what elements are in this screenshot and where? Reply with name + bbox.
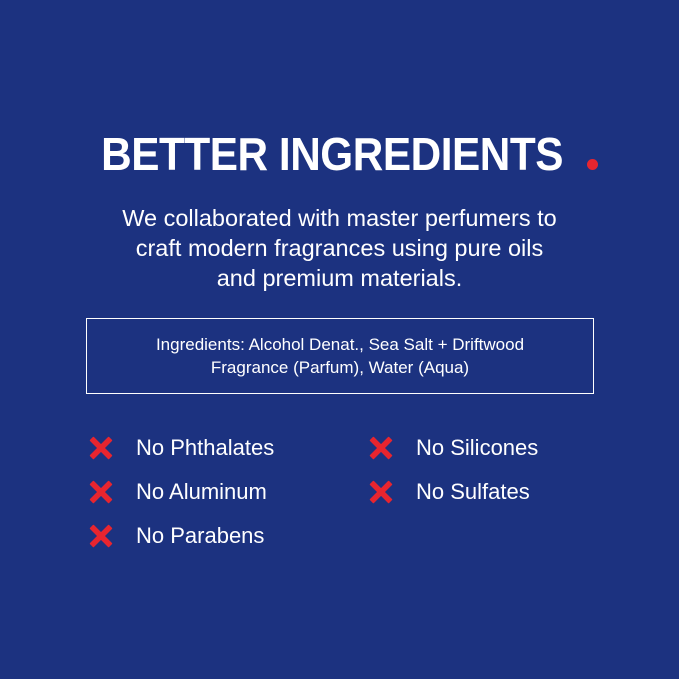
page-title-text: BETTER INGREDIENTS (102, 130, 564, 178)
subheading-line-3: and premium materials. (80, 263, 600, 293)
list-item-label: No Aluminum (136, 479, 267, 505)
list-item-label: No Parabens (136, 523, 264, 549)
ingredients-text: Ingredients: Alcohol Denat., Sea Salt + … (146, 333, 534, 379)
list-item: No Sulfates (368, 470, 608, 514)
list-item: No Silicones (368, 426, 608, 470)
subheading-line-1: We collaborated with master perfumers to (80, 203, 600, 233)
subheading: We collaborated with master perfumers to… (80, 203, 600, 293)
page-title: BETTER INGREDIENTS (0, 130, 679, 178)
red-x-icon (88, 523, 114, 549)
product-ingredients-infographic: BETTER INGREDIENTS We collaborated with … (0, 0, 679, 679)
ingredients-box: Ingredients: Alcohol Denat., Sea Salt + … (86, 318, 594, 394)
list-item-label: No Phthalates (136, 435, 274, 461)
claims-list: No Phthalates No Aluminum No Parabens (88, 426, 608, 558)
list-item-label: No Silicones (416, 435, 538, 461)
list-item: No Parabens (88, 514, 368, 558)
ingredients-line-1: Ingredients: Alcohol Denat., Sea Salt + … (156, 333, 524, 356)
red-dot-icon (587, 159, 598, 170)
red-x-icon (368, 435, 394, 461)
list-item: No Aluminum (88, 470, 368, 514)
claims-column-right: No Silicones No Sulfates (368, 426, 608, 558)
red-x-icon (88, 435, 114, 461)
red-x-icon (88, 479, 114, 505)
red-x-icon (368, 479, 394, 505)
claims-column-left: No Phthalates No Aluminum No Parabens (88, 426, 368, 558)
ingredients-line-2: Fragrance (Parfum), Water (Aqua) (156, 356, 524, 379)
subheading-line-2: craft modern fragrances using pure oils (80, 233, 600, 263)
list-item: No Phthalates (88, 426, 368, 470)
list-item-label: No Sulfates (416, 479, 530, 505)
